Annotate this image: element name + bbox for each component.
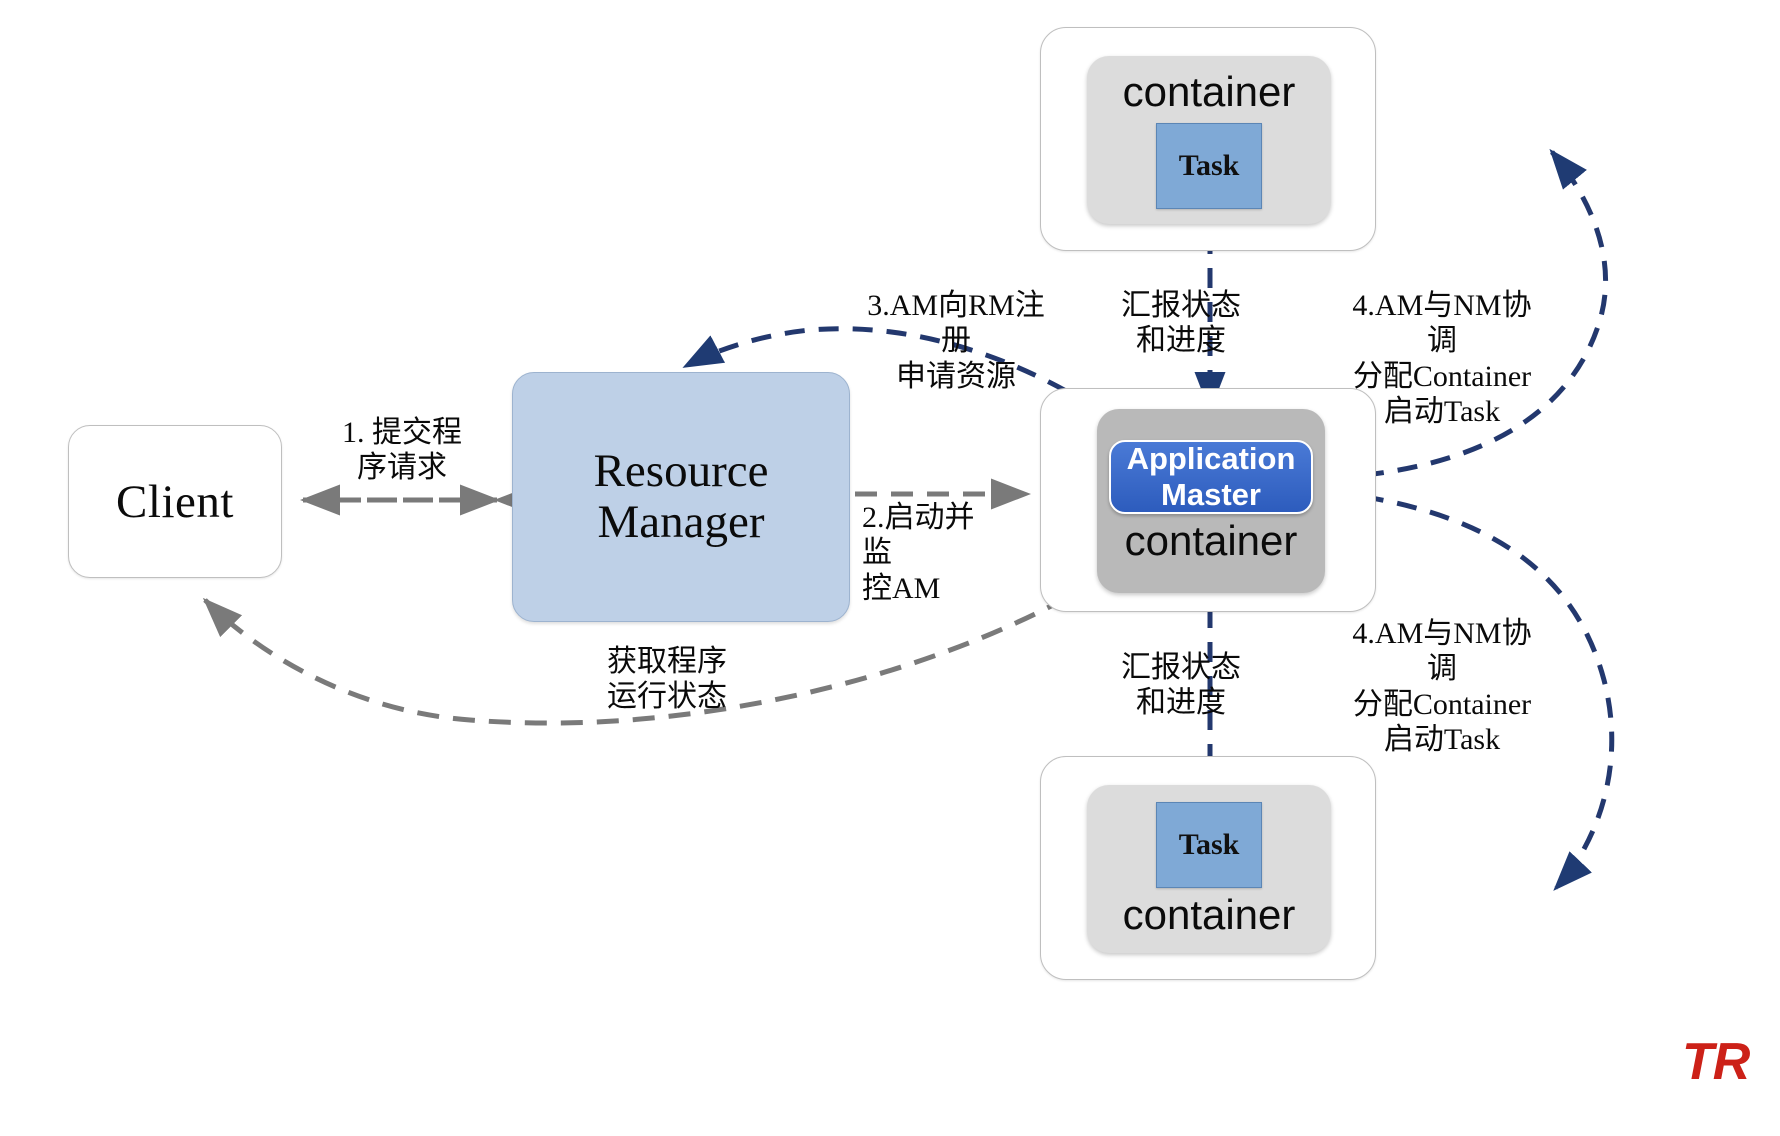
client-label: Client xyxy=(116,475,234,529)
node-client[interactable]: Client xyxy=(68,425,282,578)
node-top-nodemanager[interactable]: container Task xyxy=(1040,27,1376,251)
node-bottom-nodemanager[interactable]: Task container xyxy=(1040,756,1376,980)
node-am-nodemanager[interactable]: Application Master container xyxy=(1040,388,1376,612)
top-task-label: Task xyxy=(1179,149,1240,183)
watermark-text: TR xyxy=(1682,1033,1749,1091)
watermark-logo: TR xyxy=(1682,1032,1780,1092)
edge-label-submit-request: 1. 提交程 序请求 xyxy=(318,415,486,486)
bottom-container-label: container xyxy=(1123,894,1296,936)
am-container-label: container xyxy=(1125,520,1298,562)
bottom-task-label: Task xyxy=(1179,828,1240,862)
top-container-box[interactable]: container Task xyxy=(1087,56,1331,224)
edge-label-report-status-bottom: 汇报状态 和进度 xyxy=(1112,650,1250,721)
application-master-box[interactable]: Application Master xyxy=(1109,440,1313,514)
top-container-label: container xyxy=(1123,71,1296,113)
edge-label-register-resources: 3.AM向RM注册 申请资源 xyxy=(862,288,1050,394)
application-master-label: Application Master xyxy=(1127,441,1296,512)
node-resource-manager[interactable]: Resource Manager xyxy=(512,372,850,622)
edge-label-coordinate-nm-bottom: 4.AM与NM协调 分配Container 启动Task xyxy=(1342,616,1542,758)
resource-manager-label: Resource Manager xyxy=(594,446,769,548)
am-container-box[interactable]: Application Master container xyxy=(1097,409,1325,593)
edge-label-get-running-status: 获取程序 运行状态 xyxy=(598,644,736,715)
bottom-container-box[interactable]: Task container xyxy=(1087,785,1331,953)
bottom-task-box[interactable]: Task xyxy=(1156,802,1262,888)
edge-label-coordinate-nm-top: 4.AM与NM协调 分配Container 启动Task xyxy=(1342,288,1542,430)
diagram-canvas: Client Resource Manager container Task A… xyxy=(0,0,1780,1136)
edge-label-report-status-top: 汇报状态 和进度 xyxy=(1112,288,1250,359)
edge-label-launch-monitor-am: 2.启动并监 控AM xyxy=(862,500,1002,606)
top-task-box[interactable]: Task xyxy=(1156,123,1262,209)
